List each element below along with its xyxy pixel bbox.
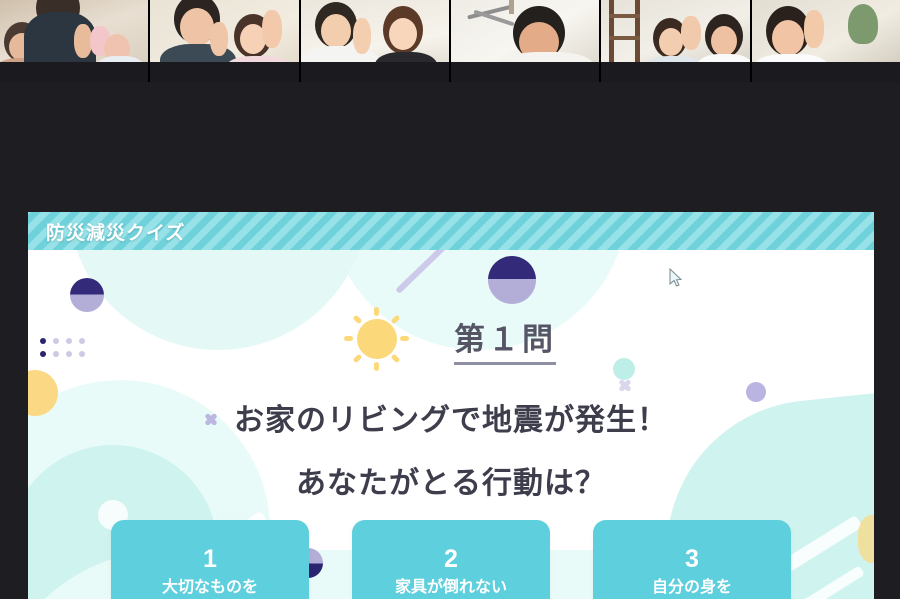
deco-x-small-2 bbox=[618, 378, 632, 392]
answer-label-2: 家具が倒れない ように支える bbox=[395, 577, 507, 599]
deco-half-circle-left bbox=[70, 278, 104, 312]
question-text-line-1: お家のリビングで地震が発生！ bbox=[28, 395, 874, 439]
slide-body: 第１問 お家のリビングで地震が発生！ あなたがとる行動は？ 1 大切なものを 取… bbox=[28, 250, 874, 599]
slide-title: 防災減災クイズ bbox=[46, 218, 185, 245]
answer-label-2-line-1: 家具が倒れない bbox=[395, 577, 507, 598]
answer-option-1[interactable]: 1 大切なものを 取りに行く bbox=[111, 520, 309, 599]
answer-options: 1 大切なものを 取りに行く 2 家具が倒れない ように支える bbox=[28, 520, 874, 599]
participant-name-bar-5 bbox=[601, 62, 749, 82]
video-tile-1[interactable] bbox=[0, 0, 148, 82]
participant-video-gallery bbox=[0, 0, 900, 82]
answer-label-3-line-1: 自分の身を bbox=[652, 577, 732, 598]
video-tile-2[interactable] bbox=[150, 0, 298, 82]
deco-half-circle-center bbox=[488, 256, 536, 304]
question-number-row: 第１問 bbox=[28, 308, 874, 370]
video-tile-3[interactable] bbox=[301, 0, 449, 82]
shared-screen-stage: 防災減災クイズ bbox=[0, 82, 900, 599]
sun-icon bbox=[346, 308, 408, 370]
screen-share-window: 防災減災クイズ bbox=[0, 0, 900, 599]
participant-name-bar-4 bbox=[451, 62, 599, 82]
slide-header-banner: 防災減災クイズ bbox=[28, 212, 874, 250]
deco-lavender-slash-1 bbox=[395, 250, 447, 294]
video-tile-5[interactable] bbox=[601, 0, 749, 82]
presentation-slide: 防災減災クイズ bbox=[28, 212, 874, 599]
mouse-cursor bbox=[669, 268, 683, 288]
answer-option-2[interactable]: 2 家具が倒れない ように支える bbox=[352, 520, 550, 599]
answer-number-3: 3 bbox=[685, 546, 699, 574]
video-tile-4[interactable] bbox=[451, 0, 599, 82]
answer-label-3: 自分の身を 守る bbox=[652, 577, 732, 599]
answer-label-1: 大切なものを 取りに行く bbox=[162, 577, 258, 599]
answer-option-3[interactable]: 3 自分の身を 守る bbox=[593, 520, 791, 599]
participant-name-bar-1 bbox=[0, 62, 148, 82]
question-text-line-2: あなたがとる行動は？ bbox=[28, 458, 874, 502]
participant-name-bar-6 bbox=[752, 62, 900, 82]
participant-name-bar-3 bbox=[301, 62, 449, 82]
participant-name-bar-2 bbox=[150, 62, 298, 82]
answer-label-1-line-1: 大切なものを bbox=[162, 577, 258, 598]
video-tile-6[interactable] bbox=[752, 0, 900, 82]
answer-number-1: 1 bbox=[203, 546, 217, 574]
answer-number-2: 2 bbox=[444, 546, 458, 574]
question-number: 第１問 bbox=[454, 314, 556, 365]
